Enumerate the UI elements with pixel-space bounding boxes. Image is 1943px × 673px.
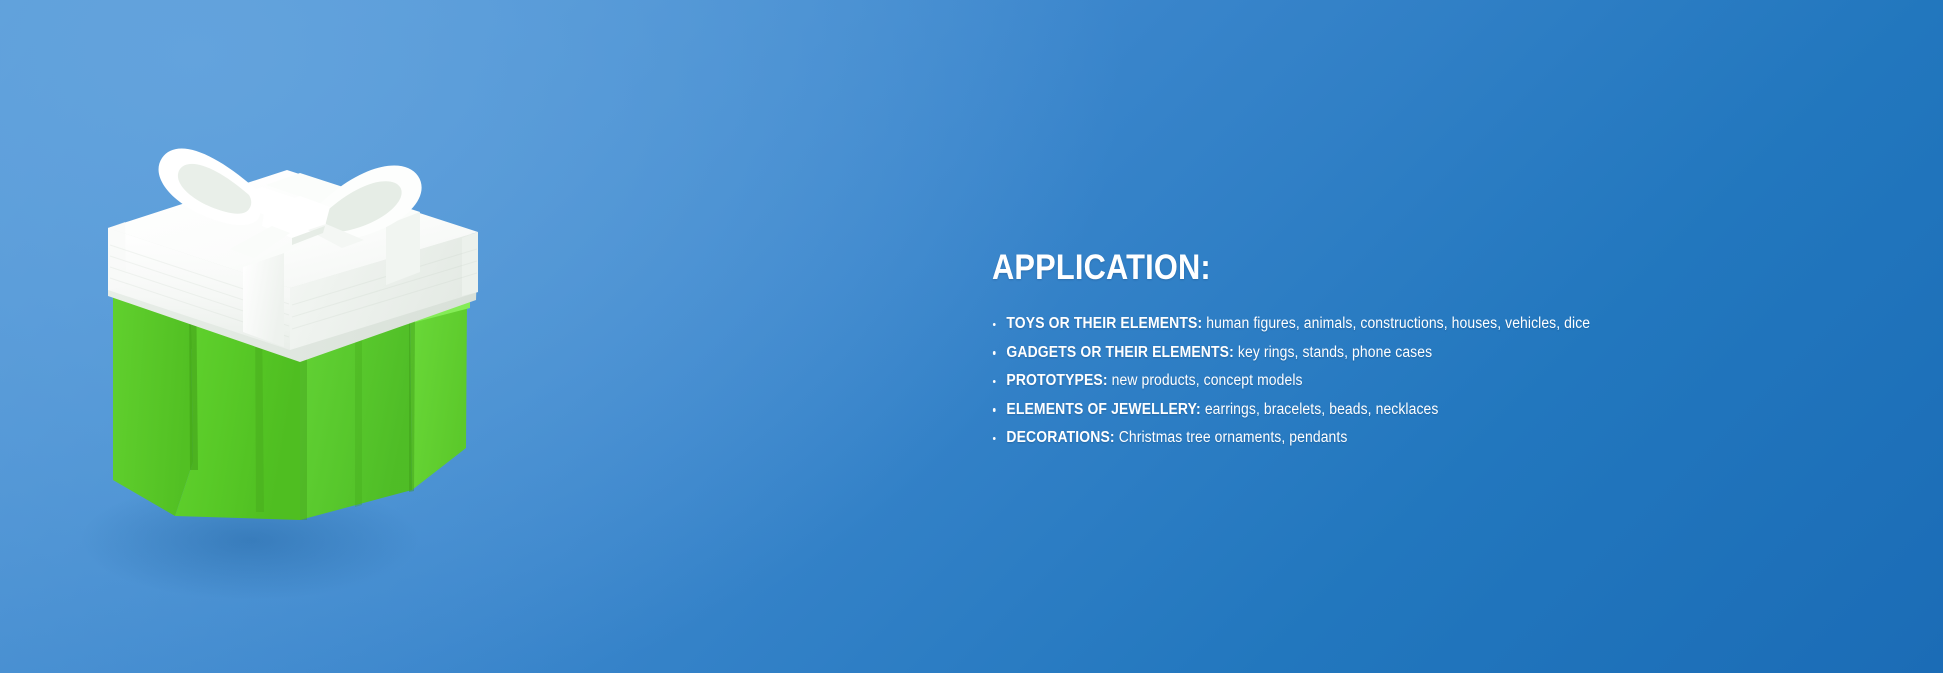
lid-face-front-right (290, 232, 478, 350)
list-item-value: earrings, bracelets, beads, necklaces (1205, 401, 1439, 418)
lid-corner-left (108, 222, 126, 290)
box-rim-left-edge (113, 282, 150, 302)
list-item-value: Christmas tree ornaments, pendants (1119, 429, 1348, 446)
box-shadow (80, 480, 420, 600)
application-list: TOYS OR THEIR ELEMENTS: human figures, a… (992, 314, 1772, 449)
box-face-left (113, 262, 193, 516)
list-item-key: PROTOTYPES: (1006, 372, 1111, 389)
bow-knot (262, 196, 330, 238)
ribbon-band-top-front (243, 217, 352, 267)
lid-top-surface (108, 170, 478, 288)
list-item-key: TOYS OR THEIR ELEMENTS: (1006, 315, 1206, 332)
bullet-icon (993, 408, 996, 411)
box-rim-right (300, 300, 470, 352)
lid-layer-lines (110, 245, 477, 337)
bow-tail-left (230, 226, 290, 258)
page-title: APPLICATION: (992, 248, 1678, 288)
lid-underside (108, 176, 478, 362)
white-lid (108, 149, 478, 362)
box-rim-front (150, 292, 300, 352)
bullet-icon (993, 351, 996, 354)
list-item: GADGETS OR THEIR ELEMENTS: key rings, st… (992, 343, 1694, 364)
box-ridge-2 (255, 310, 264, 512)
ribbon-band-right (386, 212, 420, 285)
list-item: DECORATIONS: Christmas tree ornaments, p… (992, 428, 1694, 449)
ribbon-band-front (243, 253, 284, 347)
list-item-key: GADGETS OR THEIR ELEMENTS: (1006, 344, 1238, 361)
bullet-icon (993, 437, 996, 440)
application-copy: APPLICATION: TOYS OR THEIR ELEMENTS: hum… (992, 248, 1772, 457)
bow-loop-left (159, 149, 261, 226)
box-ridge-1 (189, 275, 198, 470)
list-item: PROTOTYPES: new products, concept models (992, 371, 1694, 392)
box-interior-left (150, 292, 300, 400)
box-face-front-right (300, 316, 412, 520)
bow-loop-left-hole (178, 164, 251, 214)
list-item: TOYS OR THEIR ELEMENTS: human figures, a… (992, 314, 1694, 335)
list-item: ELEMENTS OF JEWELLERY: earrings, bracele… (992, 400, 1694, 421)
application-banner: APPLICATION: TOYS OR THEIR ELEMENTS: hum… (0, 0, 1943, 673)
lid-corner-right (462, 232, 478, 296)
list-item-value: key rings, stands, phone cases (1238, 344, 1432, 361)
box-ridge-5 (409, 315, 415, 492)
box-ridge-4 (355, 329, 362, 507)
box-face-right (410, 297, 467, 490)
list-item-key: DECORATIONS: (1006, 429, 1118, 446)
gift-box-illustration (0, 0, 660, 673)
green-box-base (113, 258, 470, 520)
list-item-value: human figures, animals, constructions, h… (1206, 315, 1590, 332)
bow-loop-right (314, 166, 421, 241)
box-face-front (175, 262, 300, 520)
bullet-icon (993, 323, 996, 326)
lid-face-front-left (108, 228, 290, 350)
box-ridge-3 (300, 343, 307, 520)
ribbon-band-top (222, 187, 352, 231)
box-interior-back (150, 258, 470, 344)
bullet-icon (993, 380, 996, 383)
ribbon-band-cross (266, 173, 420, 225)
bow-loop-right-hole (325, 181, 402, 231)
bow-tail-right (308, 224, 364, 248)
list-item-value: new products, concept models (1112, 372, 1303, 389)
bow-knot-shade (292, 226, 325, 245)
list-item-key: ELEMENTS OF JEWELLERY: (1006, 401, 1204, 418)
